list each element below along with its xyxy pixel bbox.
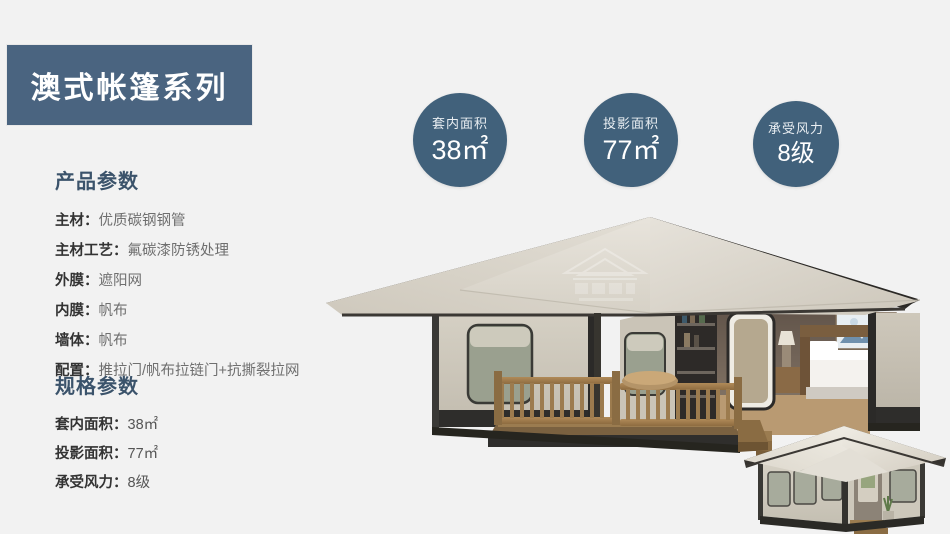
product-param-row: 主材工艺：氟碳漆防锈处理 [55, 236, 300, 266]
product-parameters-section: 产品参数 主材：优质碳钢钢管 主材工艺：氟碳漆防锈处理 外膜：遮阳网 内膜：帆布… [55, 165, 300, 386]
param-label: 内膜： [55, 303, 99, 319]
badge-value: 8级 [777, 142, 814, 166]
product-param-row: 墙体：帆布 [55, 326, 300, 356]
param-label: 外膜： [55, 273, 99, 289]
title-banner: 澳式帐篷系列 [7, 45, 252, 125]
badge-label: 投影面积 [603, 117, 659, 130]
badge-wind-resistance: 承受风力 8级 [753, 101, 839, 187]
specification-parameters-section: 规格参数 套内面积：38㎡ 投影面积：77㎡ 承受风力：8级 [55, 370, 158, 498]
product-parameters-heading: 产品参数 [55, 165, 300, 194]
badge-interior-area: 套内面积 38㎡ [413, 93, 507, 187]
badge-value: 77㎡ [602, 137, 659, 164]
badge-projected-area: 投影面积 77㎡ [584, 93, 678, 187]
product-spec-page: 澳式帐篷系列 产品参数 主材：优质碳钢钢管 主材工艺：氟碳漆防锈处理 外膜：遮阳… [0, 0, 950, 534]
badge-label: 承受风力 [768, 122, 824, 135]
param-value: 优质碳钢钢管 [99, 213, 186, 229]
spec-value: 77㎡ [128, 446, 159, 462]
product-param-row: 主材：优质碳钢钢管 [55, 206, 300, 236]
param-label: 主材工艺： [55, 243, 128, 259]
spec-param-row: 承受风力：8级 [55, 469, 158, 498]
badge-value: 38㎡ [431, 137, 488, 164]
param-label: 主材： [55, 213, 99, 229]
spec-param-row: 套内面积：38㎡ [55, 411, 158, 440]
spec-label: 投影面积： [55, 446, 128, 462]
param-value: 氟碳漆防锈处理 [128, 243, 230, 259]
page-title: 澳式帐篷系列 [31, 63, 229, 107]
param-value: 帆布 [99, 333, 128, 349]
param-value: 帆布 [99, 303, 128, 319]
spec-value: 38㎡ [128, 417, 159, 433]
spec-value: 8级 [128, 475, 151, 491]
spec-label: 套内面积： [55, 417, 128, 433]
secondary-tent-image [738, 412, 950, 534]
specification-parameters-heading: 规格参数 [55, 370, 158, 399]
spec-param-row: 投影面积：77㎡ [55, 440, 158, 469]
product-param-row: 内膜：帆布 [55, 296, 300, 326]
param-label: 墙体： [55, 333, 99, 349]
param-value: 遮阳网 [99, 273, 143, 289]
product-param-row: 外膜：遮阳网 [55, 266, 300, 296]
badge-label: 套内面积 [432, 117, 488, 130]
spec-label: 承受风力： [55, 475, 128, 491]
